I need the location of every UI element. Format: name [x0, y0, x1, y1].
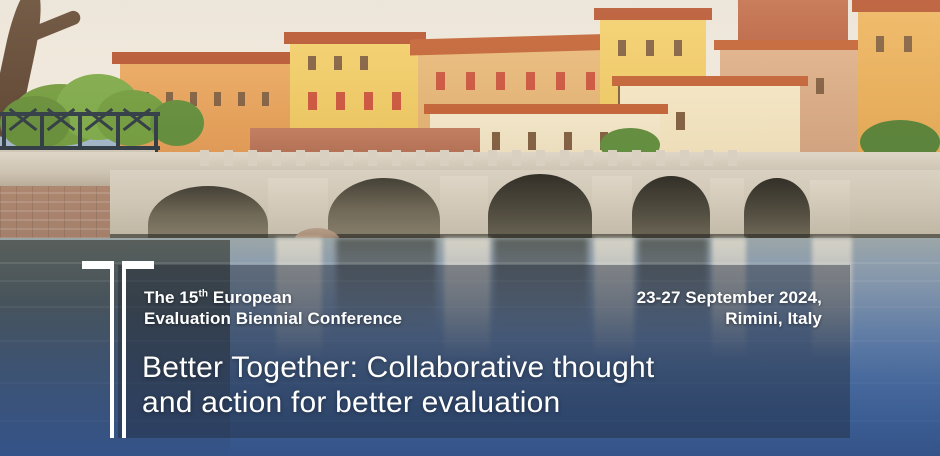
balustrade-post — [440, 150, 449, 166]
balustrade-post — [488, 150, 497, 166]
shutter — [556, 72, 565, 90]
shutter — [466, 72, 475, 90]
balustrade-post — [512, 150, 521, 166]
event-dates-location: 23-27 September 2024, Rimini, Italy — [637, 287, 822, 330]
window — [816, 78, 824, 94]
window — [308, 56, 316, 70]
roof-pink-block — [714, 40, 878, 50]
shutter — [364, 92, 373, 110]
balustrade-post — [560, 150, 569, 166]
conference-name-line1: The 15th European — [144, 288, 292, 307]
balustrade-post — [728, 150, 737, 166]
balustrade-post — [392, 150, 401, 166]
window — [876, 36, 884, 52]
conference-region-text: European — [208, 288, 292, 307]
shutter — [586, 72, 595, 90]
window — [360, 56, 368, 70]
balustrade-post — [704, 150, 713, 166]
balustrade-post — [224, 150, 233, 166]
balustrade-post — [320, 150, 329, 166]
balustrade-post — [536, 150, 545, 166]
shutter — [496, 72, 505, 90]
shutter — [308, 92, 317, 110]
conference-name: The 15th European Evaluation Biennial Co… — [144, 287, 402, 330]
bridge-pier — [592, 176, 632, 242]
conference-theme-headline: Better Together: Collaborative thought a… — [142, 350, 810, 420]
window — [492, 132, 500, 150]
conference-ordinal-text: The 15 — [144, 288, 198, 307]
balustrade-post — [200, 150, 209, 166]
balustrade-post — [368, 150, 377, 166]
roof-cream-warehouse — [612, 76, 808, 86]
roof-centre-yellow — [284, 32, 426, 44]
shutter — [436, 72, 445, 90]
conference-banner: The 15th European Evaluation Biennial Co… — [0, 0, 940, 456]
window — [214, 92, 221, 106]
balustrade-post — [656, 150, 665, 166]
roof-left — [112, 52, 298, 64]
window — [238, 92, 245, 106]
balustrade-post — [608, 150, 617, 166]
railing-post — [116, 112, 120, 154]
window — [904, 36, 912, 52]
railing-post — [40, 112, 44, 154]
event-location: Rimini, Italy — [725, 309, 822, 328]
window — [334, 56, 342, 70]
balustrade-post — [632, 150, 641, 166]
window — [262, 92, 269, 106]
roof-far-right — [852, 0, 940, 12]
window — [564, 132, 572, 150]
ordinal-suffix: th — [198, 288, 208, 299]
shutter — [336, 92, 345, 110]
balustrade-post — [344, 150, 353, 166]
iron-railing — [0, 112, 160, 154]
balustrade-post — [248, 150, 257, 166]
shutter — [526, 72, 535, 90]
bridge-pier — [810, 180, 850, 238]
balustrade-post — [680, 150, 689, 166]
window — [676, 112, 685, 130]
railing-post — [78, 112, 82, 154]
railing-post — [154, 112, 158, 154]
conference-name-line2: Evaluation Biennial Conference — [144, 309, 402, 328]
balustrade-post — [272, 150, 281, 166]
roof-right-yellow — [594, 8, 712, 20]
bridge-pier — [710, 178, 744, 240]
window — [528, 132, 536, 150]
text-overlay-panel: The 15th European Evaluation Biennial Co… — [118, 265, 850, 438]
shutter — [392, 92, 401, 110]
window — [618, 40, 626, 56]
window — [674, 40, 682, 56]
roof-foreground-cream — [424, 104, 668, 114]
balustrade-post — [464, 150, 473, 166]
event-dates: 23-27 September 2024, — [637, 288, 822, 307]
railing-post — [2, 112, 6, 154]
headline-line-1: Better Together: Collaborative thought — [142, 350, 810, 385]
headline-line-2: and action for better evaluation — [142, 385, 810, 420]
balustrade-post — [296, 150, 305, 166]
balustrade-post — [416, 150, 425, 166]
window — [646, 40, 654, 56]
balustrade-post — [584, 150, 593, 166]
